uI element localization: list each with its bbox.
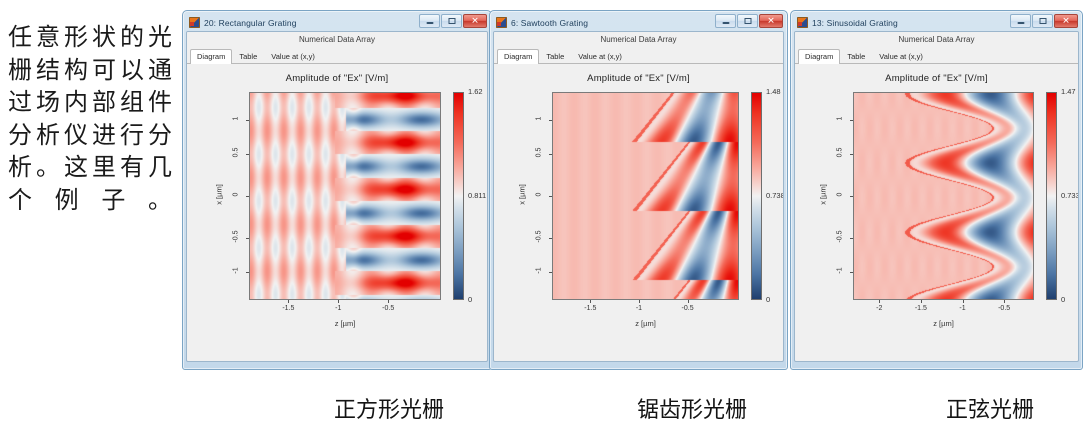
heatmap-canvas	[250, 93, 441, 300]
minimize-icon	[426, 22, 433, 24]
colorbar-max-label: 1.62	[468, 87, 483, 96]
tab-diagram[interactable]: Diagram	[497, 49, 539, 64]
close-button[interactable]: ✕	[759, 14, 783, 28]
y-tick-mark	[246, 272, 249, 273]
minimize-button[interactable]	[715, 14, 736, 28]
title-bar[interactable]: 13: Sinusoidal Grating✕	[794, 14, 1079, 31]
y-tick-mark	[549, 154, 552, 155]
tab-diagram[interactable]: Diagram	[798, 49, 840, 64]
y-tick-label: 0	[837, 182, 844, 208]
y-tick-mark	[246, 196, 249, 197]
heatmap-canvas	[553, 93, 739, 300]
title-bar[interactable]: 6: Sawtooth Grating✕	[493, 14, 784, 31]
x-tick-mark	[288, 300, 289, 303]
y-axis-label: x [µm]	[819, 165, 828, 225]
x-tick-mark	[338, 300, 339, 303]
colorbar	[453, 92, 464, 300]
x-tick-label: -1	[322, 305, 354, 312]
client-area: Numerical Data ArrayDiagramTableValue at…	[186, 31, 488, 362]
document-subtitle: Numerical Data Array	[187, 32, 487, 48]
app-logo-icon	[189, 17, 200, 28]
x-tick-label: -1.5	[272, 305, 304, 312]
y-tick-label: -1	[536, 257, 543, 283]
window-1[interactable]: 20: Rectangular Grating✕Numerical Data A…	[182, 10, 492, 370]
plot-title: Amplitude of "Ex" [V/m]	[494, 64, 783, 86]
minimize-button[interactable]	[419, 14, 440, 28]
maximize-icon	[1039, 18, 1046, 24]
heatmap-plot[interactable]	[853, 92, 1034, 300]
maximize-button[interactable]	[441, 14, 462, 28]
minimize-button[interactable]	[1010, 14, 1031, 28]
y-tick-mark	[549, 196, 552, 197]
tab-value-at-x-y[interactable]: Value at (x,y)	[872, 49, 930, 64]
close-icon: ✕	[767, 16, 775, 25]
window-controls: ✕	[715, 14, 783, 28]
x-tick-label: -1.5	[574, 305, 606, 312]
x-tick-label: -1	[947, 305, 979, 312]
y-tick-label: -0.5	[233, 223, 240, 249]
y-tick-mark	[850, 272, 853, 273]
tab-table[interactable]: Table	[539, 49, 571, 64]
tab-diagram[interactable]: Diagram	[190, 49, 232, 64]
x-tick-label: -1	[623, 305, 655, 312]
close-button[interactable]: ✕	[463, 14, 487, 28]
app-logo-icon	[496, 17, 507, 28]
minimize-icon	[722, 22, 729, 24]
tab-strip: DiagramTableValue at (x,y)	[494, 48, 783, 64]
y-tick-label: -1	[837, 257, 844, 283]
y-tick-mark	[850, 238, 853, 239]
figure-caption-2: 锯齿形光栅	[547, 392, 837, 424]
plot-title: Amplitude of "Ex" [V/m]	[187, 64, 487, 86]
figure-caption-3: 正弦光栅	[845, 392, 1084, 424]
y-tick-label: 1	[233, 106, 240, 132]
window-controls: ✕	[419, 14, 487, 28]
x-tick-mark	[688, 300, 689, 303]
client-area: Numerical Data ArrayDiagramTableValue at…	[493, 31, 784, 362]
maximize-icon	[448, 18, 455, 24]
heatmap-plot[interactable]	[552, 92, 739, 300]
y-tick-label: 0.5	[536, 140, 543, 166]
x-tick-label: -0.5	[372, 305, 404, 312]
colorbar	[751, 92, 762, 300]
tab-strip: DiagramTableValue at (x,y)	[187, 48, 487, 64]
y-tick-mark	[549, 120, 552, 121]
y-tick-mark	[246, 238, 249, 239]
x-tick-label: -2	[863, 305, 895, 312]
window-3[interactable]: 13: Sinusoidal Grating✕Numerical Data Ar…	[790, 10, 1083, 370]
plot-title: Amplitude of "Ex" [V/m]	[795, 64, 1078, 86]
x-tick-mark	[639, 300, 640, 303]
window-title: 13: Sinusoidal Grating	[812, 18, 898, 28]
window-title: 6: Sawtooth Grating	[511, 18, 588, 28]
colorbar-min-label: 0	[468, 295, 472, 304]
figure-caption-1: 正方形光栅	[244, 392, 534, 424]
x-tick-label: -0.5	[672, 305, 704, 312]
maximize-icon	[744, 18, 751, 24]
document-subtitle: Numerical Data Array	[795, 32, 1078, 48]
close-button[interactable]: ✕	[1054, 14, 1078, 28]
tab-value-at-x-y[interactable]: Value at (x,y)	[264, 49, 322, 64]
y-tick-mark	[246, 120, 249, 121]
y-tick-label: 0.5	[233, 140, 240, 166]
x-tick-mark	[879, 300, 880, 303]
y-tick-label: 0	[536, 182, 543, 208]
y-tick-label: 1	[837, 106, 844, 132]
minimize-icon	[1017, 22, 1024, 24]
x-tick-mark	[590, 300, 591, 303]
x-axis-label: z [µm]	[552, 319, 739, 328]
colorbar-max-label: 1.47	[1061, 87, 1076, 96]
y-tick-label: 1	[536, 106, 543, 132]
y-tick-label: 0	[233, 182, 240, 208]
y-tick-mark	[549, 272, 552, 273]
y-axis-label: x [µm]	[215, 165, 224, 225]
tab-table[interactable]: Table	[232, 49, 264, 64]
x-tick-mark	[388, 300, 389, 303]
title-bar[interactable]: 20: Rectangular Grating✕	[186, 14, 488, 31]
plot-area: 10.50-0.5-1x [µm]-1.5-1-0.5z [µm]1.620.8…	[187, 86, 487, 338]
heatmap-canvas	[854, 93, 1034, 300]
y-tick-mark	[850, 196, 853, 197]
y-tick-mark	[246, 154, 249, 155]
maximize-button[interactable]	[1032, 14, 1053, 28]
y-tick-mark	[549, 238, 552, 239]
colorbar-min-label: 0	[1061, 295, 1065, 304]
colorbar	[1046, 92, 1057, 300]
y-axis-label: x [µm]	[518, 165, 527, 225]
x-axis-label: z [µm]	[853, 319, 1034, 328]
client-area: Numerical Data ArrayDiagramTableValue at…	[794, 31, 1079, 362]
tab-strip: DiagramTableValue at (x,y)	[795, 48, 1078, 64]
plot-area: 10.50-0.5-1x [µm]-2-1.5-1-0.5z [µm]1.470…	[795, 86, 1078, 338]
y-tick-label: 0.5	[837, 140, 844, 166]
colorbar-mid-label: 0.811	[468, 191, 486, 200]
tab-table[interactable]: Table	[840, 49, 872, 64]
x-tick-mark	[963, 300, 964, 303]
colorbar-min-label: 0	[766, 295, 770, 304]
y-tick-label: -1	[233, 257, 240, 283]
window-2[interactable]: 6: Sawtooth Grating✕Numerical Data Array…	[489, 10, 788, 370]
window-title: 20: Rectangular Grating	[204, 18, 297, 28]
x-tick-mark	[921, 300, 922, 303]
y-tick-label: -0.5	[837, 223, 844, 249]
x-axis-label: z [µm]	[249, 319, 441, 328]
y-tick-mark	[850, 154, 853, 155]
colorbar-mid-label: 0.738	[766, 191, 784, 200]
x-tick-mark	[1004, 300, 1005, 303]
close-icon: ✕	[1062, 16, 1070, 25]
y-tick-mark	[850, 120, 853, 121]
intro-paragraph: 任意形状的光栅结构可以通过场内部组件分析仪进行分析。这里有几个例子。	[8, 22, 172, 217]
heatmap-plot[interactable]	[249, 92, 441, 300]
colorbar-max-label: 1.48	[766, 87, 781, 96]
x-tick-label: -1.5	[905, 305, 937, 312]
maximize-button[interactable]	[737, 14, 758, 28]
document-subtitle: Numerical Data Array	[494, 32, 783, 48]
window-controls: ✕	[1010, 14, 1078, 28]
tab-value-at-x-y[interactable]: Value at (x,y)	[571, 49, 629, 64]
plot-area: 10.50-0.5-1x [µm]-1.5-1-0.5z [µm]1.480.7…	[494, 86, 783, 338]
close-icon: ✕	[471, 16, 479, 25]
x-tick-label: -0.5	[988, 305, 1020, 312]
colorbar-mid-label: 0.733	[1061, 191, 1079, 200]
y-tick-label: -0.5	[536, 223, 543, 249]
app-logo-icon	[797, 17, 808, 28]
